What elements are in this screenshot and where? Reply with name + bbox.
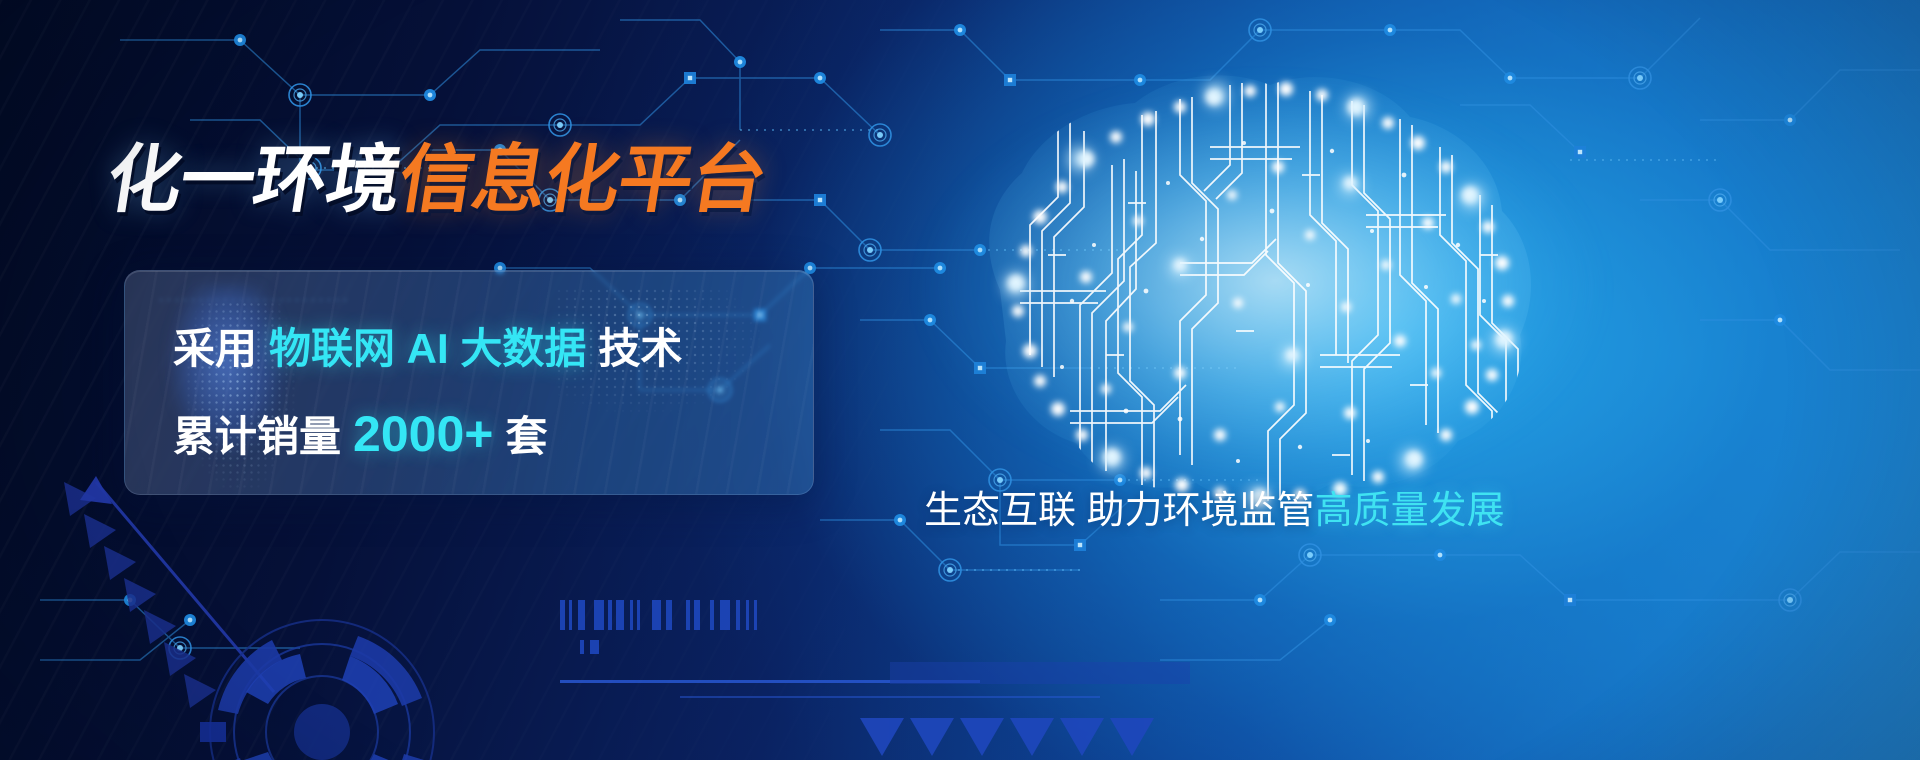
banner-tagline: 生态互联 助力环境监管高质量发展: [924, 492, 1505, 530]
feature-line-sales: 累计销量2000+套: [173, 409, 547, 459]
ai-brain-graphic: [880, 55, 1640, 525]
title-white-part: 化一环境: [102, 138, 407, 221]
tech-suffix-label: 技术: [598, 325, 682, 372]
tech-highlight-label: 物联网 AI 大数据: [269, 325, 586, 372]
banner-title: 化一环境信息化平台: [102, 143, 771, 217]
brain-glow: [930, 90, 1590, 490]
tagline-accent-part: 高质量发展: [1315, 490, 1505, 532]
title-accent-part: 信息化平台: [394, 138, 772, 221]
tech-prefix-label: 采用: [173, 325, 257, 372]
sales-unit-label: 套: [505, 413, 547, 460]
feature-line-technology: 采用物联网 AI 大数据技术: [173, 328, 682, 370]
hud-decoration-left: [0, 470, 760, 760]
tagline-white-part: 生态互联 助力环境监管: [924, 490, 1315, 532]
feature-card: 采用物联网 AI 大数据技术 累计销量2000+套: [124, 270, 814, 495]
hero-banner: 化一环境信息化平台 采用物联网 AI 大数据技术 累计销量2000+套 生态互联…: [0, 0, 1920, 760]
hud-decoration-right: [560, 600, 1260, 760]
sales-count-value: 2000+: [353, 406, 493, 462]
sales-prefix-label: 累计销量: [173, 413, 341, 460]
